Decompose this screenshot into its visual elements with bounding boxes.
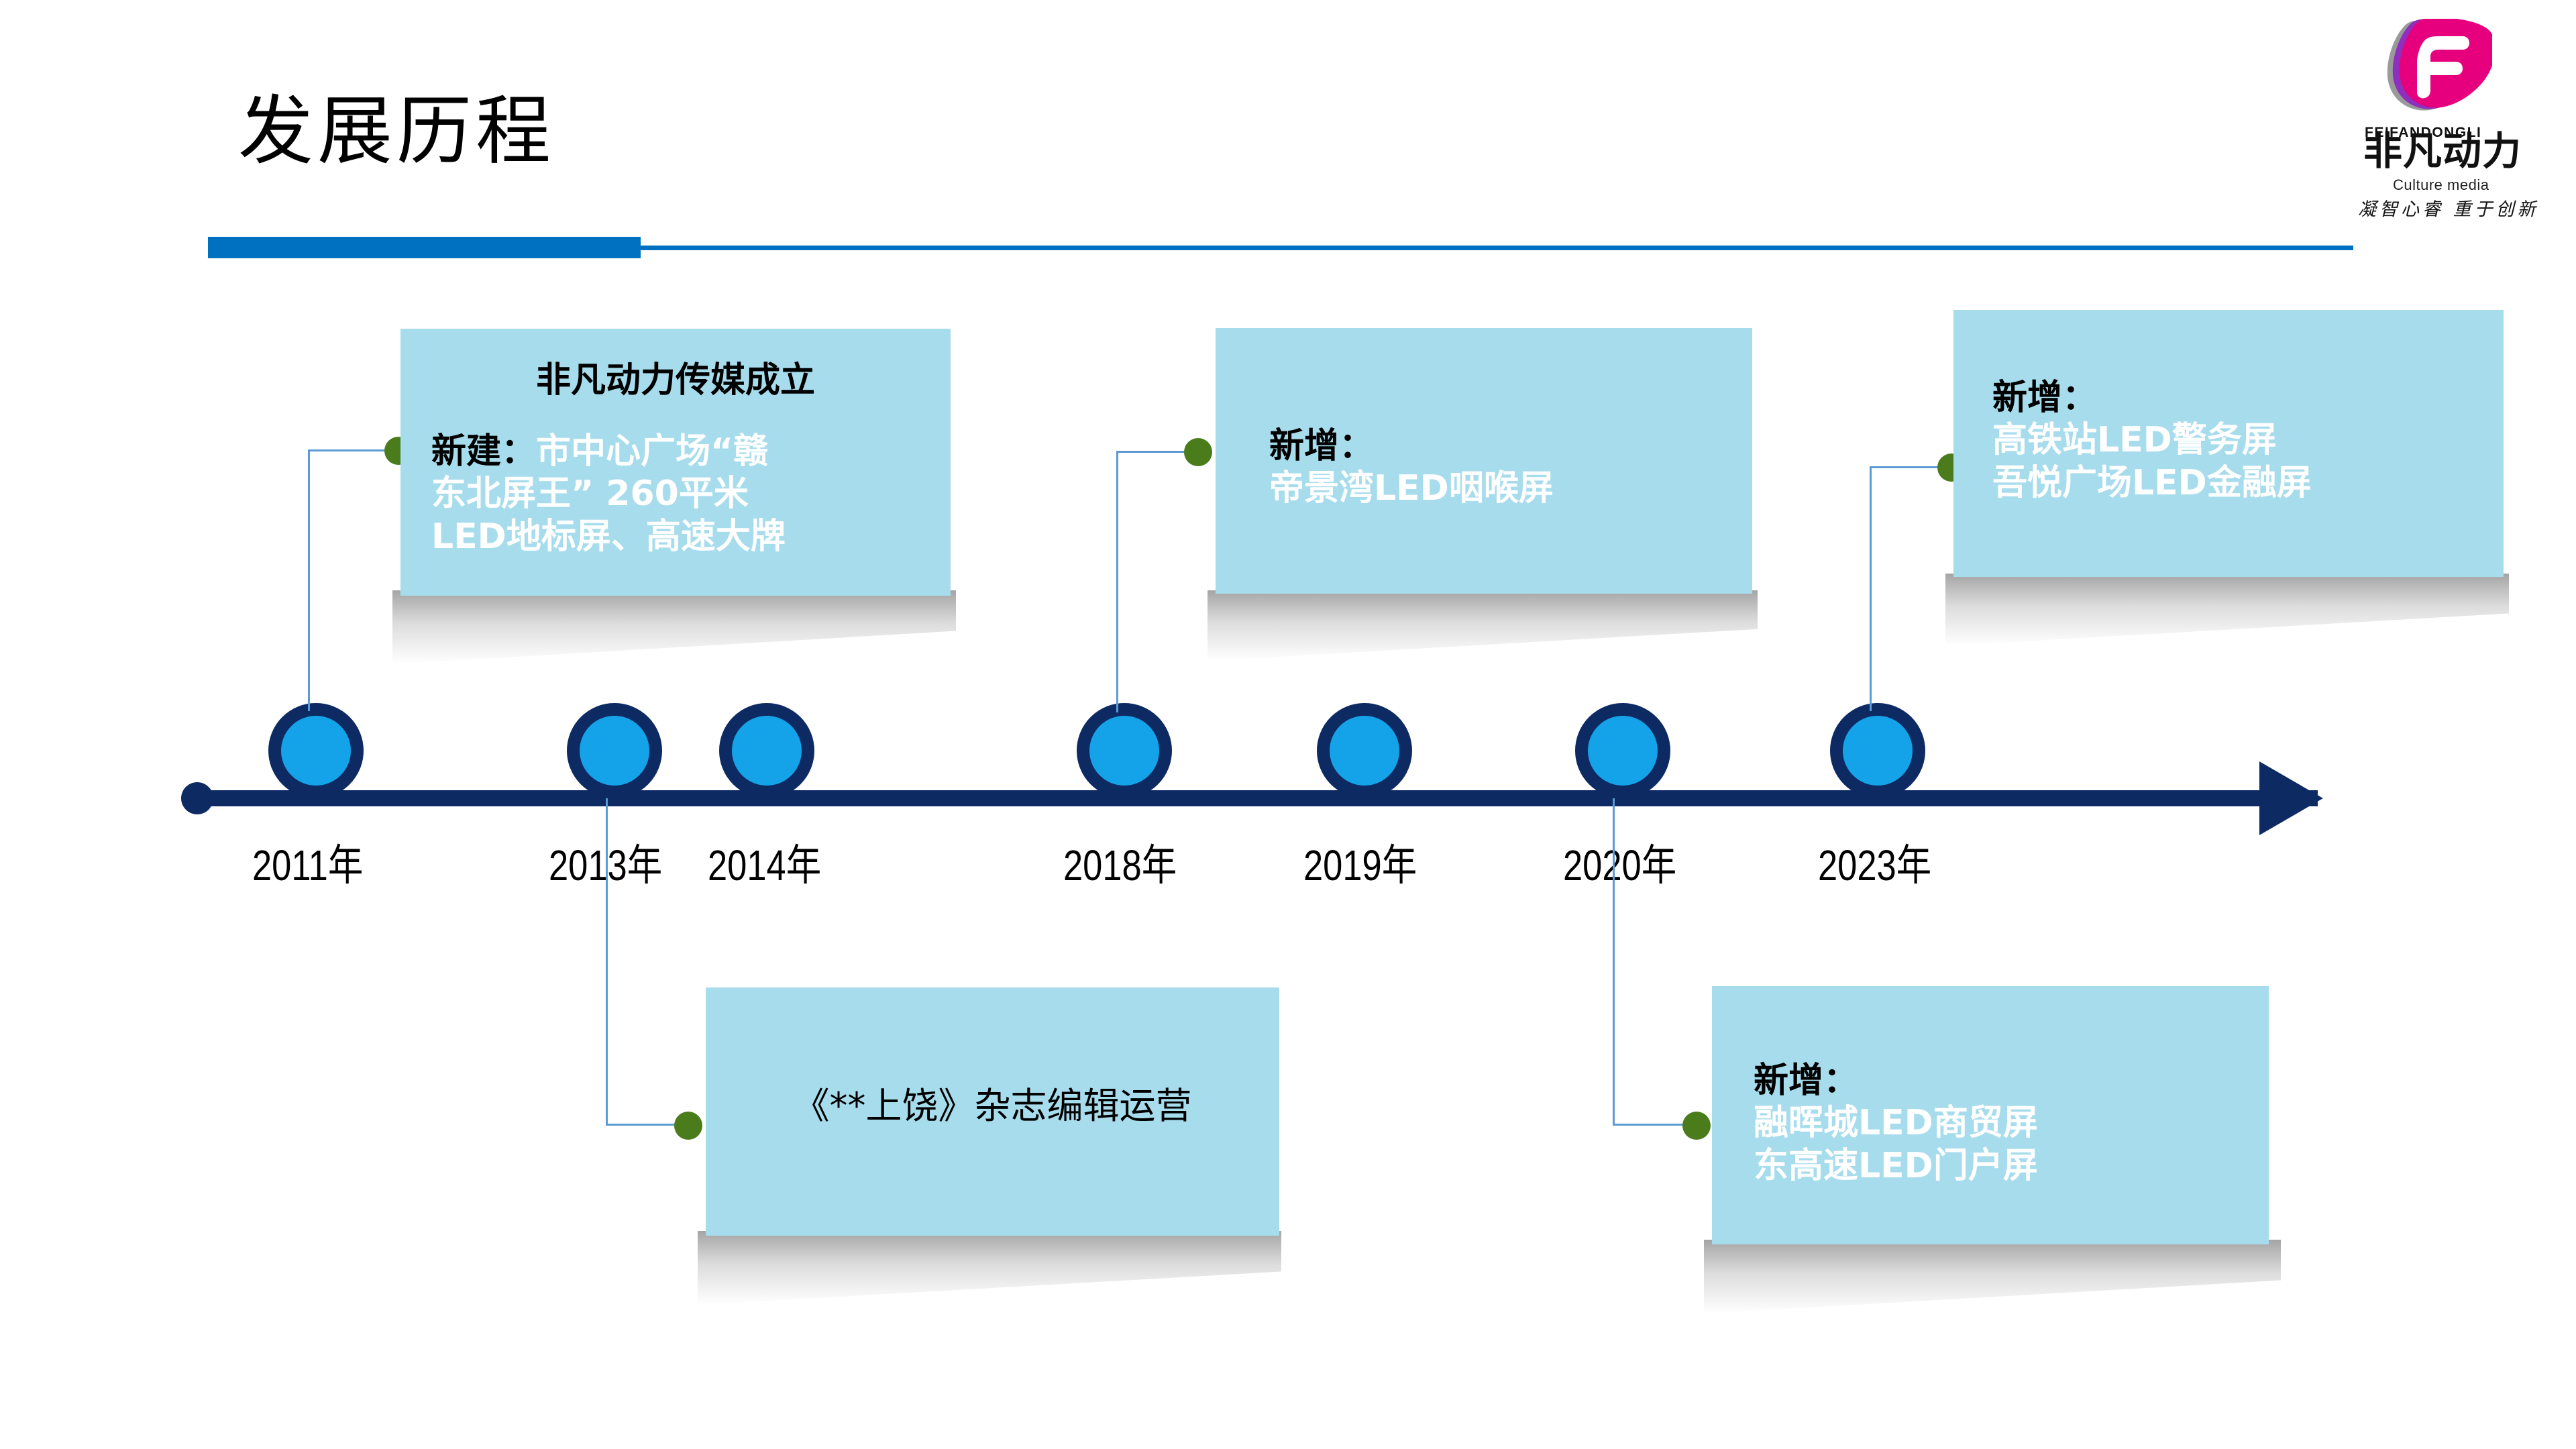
- page-title: 发展历程: [238, 94, 555, 169]
- card-2011[interactable]: 非凡动力传媒成立 新建：市中心广场“赣 东北屏王” 260平米 LED地标屏、高…: [400, 329, 951, 596]
- connector-2020-horizontal: [1613, 1124, 1693, 1126]
- card-2011-heading: 非凡动力传媒成立: [400, 361, 951, 401]
- card-2013[interactable]: 《**上饶》杂志编辑运营: [706, 987, 1279, 1236]
- timeline-year-2020: 2020年: [1563, 844, 1676, 887]
- card-shadow-2013: [698, 1231, 1281, 1305]
- card-2018[interactable]: 新增： 帝景湾LED咽喉屏: [1216, 328, 1752, 594]
- card-2013-text: 《**上饶》杂志编辑运营: [706, 1085, 1279, 1128]
- card-2018-line-1: 帝景湾LED咽喉屏: [1269, 468, 1554, 508]
- timeline-node-2011[interactable]: [268, 703, 364, 798]
- card-2011-label: 新建：: [431, 431, 536, 472]
- card-shadow-2018: [1207, 590, 1758, 661]
- card-shadow-2011: [392, 590, 956, 664]
- logo-name-cn: 非凡动力: [2363, 131, 2522, 170]
- card-2023-line-1: 高铁站LED警务屏: [1992, 420, 2277, 460]
- connector-dot-2013: [674, 1112, 702, 1140]
- title-underline-rule: [641, 246, 2353, 250]
- timeline-axis-line: [195, 790, 2318, 806]
- slide-canvas: 发展历程 FEIFANDONGLI 非凡动力 Culture media 凝智心…: [0, 0, 2576, 1449]
- logo-subtitle: Culture media: [2393, 176, 2489, 194]
- card-shadow-2023: [1945, 574, 2509, 646]
- card-2023[interactable]: 新增： 高铁站LED警务屏 吾悦广场LED金融屏: [1953, 310, 2504, 577]
- card-2020[interactable]: 新增： 融晖城LED商贸屏 东高速LED门户屏: [1712, 986, 2269, 1244]
- connector-2018-vertical: [1116, 451, 1118, 712]
- connector-2020-vertical: [1613, 798, 1615, 1124]
- card-2018-label: 新增：: [1269, 426, 1374, 466]
- company-logo: FEIFANDONGLI 非凡动力 Culture media 凝智心睿 重于创…: [2345, 19, 2526, 213]
- logo-mark-icon: [2377, 19, 2492, 114]
- connector-2023-vertical: [1870, 466, 1872, 711]
- timeline-year-2023: 2023年: [1818, 844, 1931, 887]
- card-2023-label: 新增：: [1992, 378, 2097, 418]
- connector-2013-vertical: [606, 798, 608, 1124]
- card-2011-line-2: 东北屏王” 260平米: [431, 474, 749, 514]
- card-shadow-2020: [1704, 1240, 2281, 1313]
- timeline-node-2018[interactable]: [1077, 703, 1172, 798]
- connector-dot-2020: [1682, 1112, 1711, 1140]
- timeline-year-2011: 2011年: [252, 844, 363, 887]
- timeline-year-2014: 2014年: [708, 844, 821, 887]
- logo-tagline: 凝智心睿 重于创新: [2358, 195, 2539, 221]
- connector-2011-horizontal: [308, 449, 395, 451]
- timeline-year-2018: 2018年: [1063, 844, 1177, 887]
- connector-dot-2018: [1184, 438, 1212, 466]
- card-2020-label: 新增：: [1754, 1061, 1858, 1101]
- timeline-node-2020[interactable]: [1575, 703, 1670, 798]
- card-2011-line-3: LED地标屏、高速大牌: [431, 517, 786, 557]
- timeline-year-2019: 2019年: [1303, 844, 1417, 887]
- timeline-node-2019[interactable]: [1317, 703, 1412, 798]
- timeline-arrow-icon: [2259, 761, 2323, 835]
- card-2011-line-1: 市中心广场“赣: [536, 431, 768, 472]
- timeline-node-2023[interactable]: [1830, 703, 1925, 798]
- card-2020-line-2: 东高速LED门户屏: [1754, 1146, 2038, 1186]
- title-underline-bar: [208, 237, 641, 258]
- card-2023-line-2: 吾悦广场LED金融屏: [1992, 463, 2312, 503]
- timeline-node-2014[interactable]: [719, 703, 814, 798]
- card-2020-line-1: 融晖城LED商贸屏: [1754, 1103, 2038, 1143]
- connector-2011-vertical: [308, 449, 310, 711]
- timeline-node-2013[interactable]: [567, 703, 662, 798]
